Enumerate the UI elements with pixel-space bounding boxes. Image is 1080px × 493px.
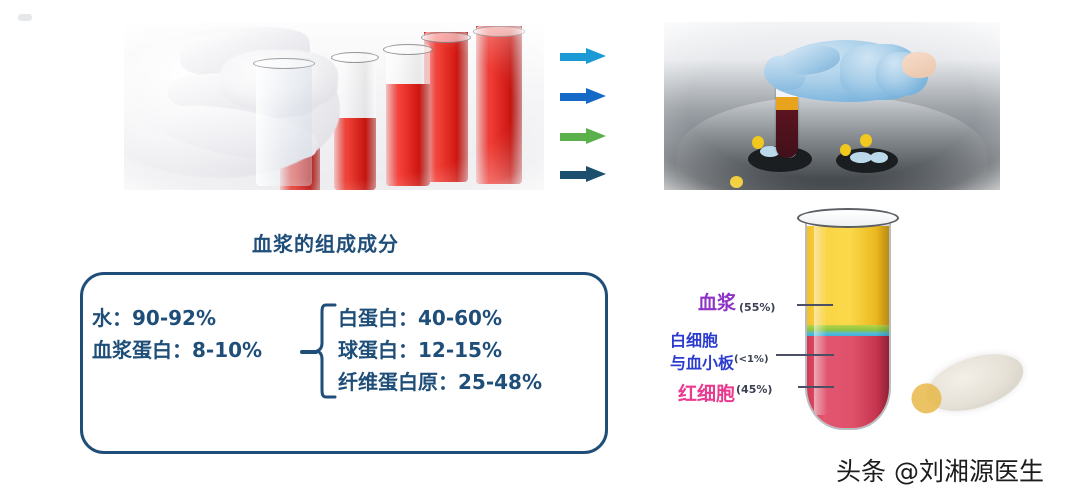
background-tube <box>901 339 1034 435</box>
label-plasma: 血浆(55%) <box>698 288 775 315</box>
label-rbc-percent: (45%) <box>736 383 772 396</box>
slide-canvas: 血浆的组成成分 水：90-92% 血浆蛋白：8-10% 白蛋白：40-60% 球… <box>0 0 1080 493</box>
comp-right-line-1: 白蛋白：40-60% <box>338 302 542 334</box>
blood-fraction-tube <box>805 208 891 430</box>
label-wbc-percent: (<1%) <box>734 354 769 365</box>
curly-brace-icon <box>315 303 337 399</box>
pipette-glass <box>256 58 312 186</box>
blood-collection-tubes-photo <box>124 22 544 190</box>
blood-tube <box>334 52 376 190</box>
blood-tube <box>476 26 522 184</box>
comp-left-line-2: 血浆蛋白：8-10% <box>92 334 262 366</box>
arrow-4 <box>560 166 610 183</box>
leader-line-wbc <box>776 354 834 356</box>
centrifuge-photo <box>664 22 1000 190</box>
arrow-2 <box>560 88 610 105</box>
label-plasma-percent: (55%) <box>739 301 775 314</box>
comp-right-line-2: 球蛋白：12-15% <box>338 334 542 366</box>
blood-fraction-diagram: 血浆(55%) 白细胞 与血小板(<1%) 红细胞(45%) <box>650 196 1080 446</box>
leader-line-plasma <box>797 304 833 306</box>
plasma-left-column: 水：90-92% 血浆蛋白：8-10% <box>92 302 262 366</box>
leader-line-rbc <box>798 386 834 388</box>
plasma-right-column: 白蛋白：40-60% 球蛋白：12-15% 纤维蛋白原：25-48% <box>338 302 542 398</box>
process-arrows <box>560 40 626 180</box>
comp-left-line-1: 水：90-92% <box>92 302 262 334</box>
label-rbc-text: 红细胞 <box>678 383 735 405</box>
label-rbc: 红细胞(45%) <box>678 379 772 406</box>
label-wbc-line-2: 与血小板 <box>670 353 734 372</box>
label-wbc-line-1: 白细胞 <box>670 331 769 350</box>
arrow-3 <box>560 128 610 145</box>
watermark: 头条 @刘湘源医生 <box>836 452 1044 488</box>
blood-tube <box>386 44 430 186</box>
corner-artifact <box>18 14 32 21</box>
comp-right-line-3: 纤维蛋白原：25-48% <box>338 366 542 398</box>
blood-tube <box>424 32 468 182</box>
label-plasma-text: 血浆 <box>698 292 736 314</box>
page-title: 血浆的组成成分 <box>252 228 399 257</box>
arrow-1 <box>560 48 610 65</box>
label-wbc-platelets: 白细胞 与血小板(<1%) <box>670 331 769 372</box>
